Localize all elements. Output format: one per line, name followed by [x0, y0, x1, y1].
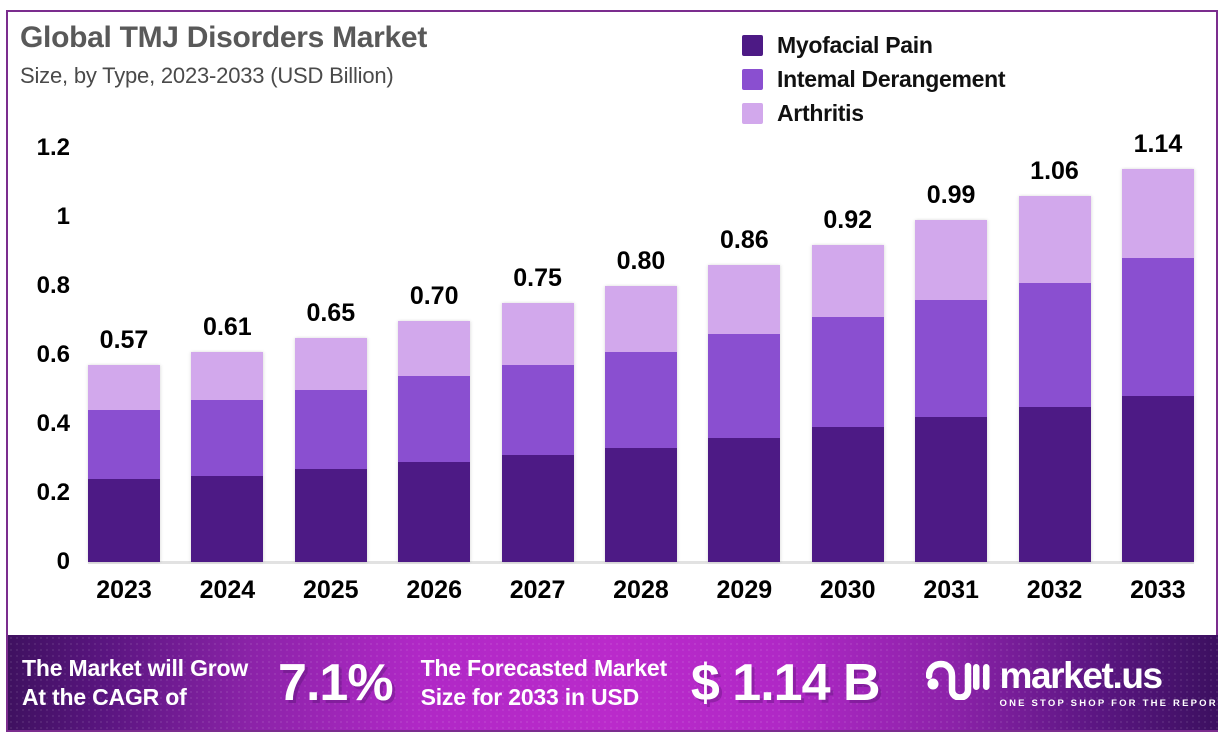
x-axis-tick-label: 2027 — [510, 576, 566, 605]
y-axis-tick-label: 0 — [57, 548, 70, 576]
bar-stack[interactable] — [708, 265, 780, 562]
x-axis-tick-label: 2025 — [303, 576, 359, 605]
bar-total-label: 0.57 — [100, 326, 149, 355]
legend-swatch-icon — [742, 69, 763, 90]
bar-segment[interactable] — [812, 317, 884, 427]
legend-item-2[interactable]: Arthritis — [742, 96, 1005, 130]
bar-segment[interactable] — [502, 365, 574, 455]
bar-stack[interactable] — [1019, 196, 1091, 562]
bar-segment[interactable] — [605, 448, 677, 562]
bar-segment[interactable] — [1122, 258, 1194, 396]
bar-series-container: 0.5720230.6120240.6520250.7020260.752027… — [88, 148, 1194, 562]
bar-segment[interactable] — [88, 479, 160, 562]
cagr-caption-line1: The Market will Grow — [22, 654, 248, 683]
bar-total-label: 0.75 — [513, 264, 562, 293]
bar-segment[interactable] — [605, 286, 677, 352]
chart-legend: Myofacial PainIntemal DerangementArthrit… — [742, 28, 1005, 130]
y-axis-tick-label: 0.8 — [37, 272, 70, 300]
bar-group-2023[interactable]: 0.572023 — [88, 148, 160, 562]
bar-segment[interactable] — [605, 352, 677, 449]
bar-group-2025[interactable]: 0.652025 — [295, 148, 367, 562]
bar-segment[interactable] — [398, 376, 470, 462]
chart-canvas: Global TMJ Disorders Market Size, by Typ… — [0, 0, 1224, 745]
bar-segment[interactable] — [295, 338, 367, 390]
y-axis-tick-label: 1 — [57, 203, 70, 231]
bar-segment[interactable] — [915, 300, 987, 417]
legend-item-1[interactable]: Intemal Derangement — [742, 62, 1005, 96]
bar-segment[interactable] — [708, 265, 780, 334]
forecast-caption-line1: The Forecasted Market — [421, 654, 667, 683]
bar-segment[interactable] — [708, 438, 780, 562]
bar-segment[interactable] — [191, 400, 263, 476]
legend-swatch-icon — [742, 35, 763, 56]
bar-segment[interactable] — [1122, 169, 1194, 259]
bar-segment[interactable] — [88, 410, 160, 479]
bar-segment[interactable] — [1019, 196, 1091, 282]
bar-group-2032[interactable]: 1.062032 — [1019, 148, 1091, 562]
bar-total-label: 1.14 — [1134, 130, 1183, 159]
chart-header: Global TMJ Disorders Market Size, by Typ… — [20, 22, 720, 89]
market-us-logo: market.us ONE STOP SHOP FOR THE REPORTS — [926, 657, 1219, 709]
x-axis-tick-label: 2030 — [820, 576, 876, 605]
x-axis-tick-label: 2033 — [1130, 576, 1186, 605]
plot-area: 00.20.40.60.811.2 0.5720230.6120240.6520… — [88, 148, 1194, 562]
bar-total-label: 0.92 — [823, 206, 872, 235]
bar-segment[interactable] — [812, 245, 884, 317]
bar-segment[interactable] — [88, 365, 160, 410]
x-axis-tick-label: 2023 — [96, 576, 152, 605]
legend-swatch-icon — [742, 103, 763, 124]
bar-total-label: 0.65 — [306, 299, 355, 328]
bar-stack[interactable] — [915, 220, 987, 562]
forecast-caption: The Forecasted Market Size for 2033 in U… — [421, 654, 667, 712]
x-axis-tick-label: 2031 — [923, 576, 979, 605]
logo-word: market.us — [1000, 657, 1219, 694]
legend-item-label: Intemal Derangement — [777, 66, 1005, 93]
cagr-caption-line2: At the CAGR of — [22, 683, 248, 712]
footer-banner: The Market will Grow At the CAGR of 7.1%… — [8, 635, 1218, 730]
cagr-value: 7.1% — [278, 653, 393, 713]
bar-stack[interactable] — [295, 338, 367, 562]
y-axis-tick-label: 0.4 — [37, 410, 70, 438]
bar-group-2033[interactable]: 1.142033 — [1122, 148, 1194, 562]
bar-group-2030[interactable]: 0.922030 — [812, 148, 884, 562]
market-us-wordmark: market.us ONE STOP SHOP FOR THE REPORTS — [1000, 657, 1219, 709]
bar-group-2029[interactable]: 0.862029 — [708, 148, 780, 562]
bar-total-label: 0.99 — [927, 181, 976, 210]
chart-subtitle: Size, by Type, 2023-2033 (USD Billion) — [20, 63, 720, 89]
x-axis-tick-label: 2028 — [613, 576, 669, 605]
bar-total-label: 0.61 — [203, 313, 252, 342]
x-axis-tick-label: 2029 — [717, 576, 773, 605]
bar-segment[interactable] — [191, 352, 263, 400]
bar-group-2027[interactable]: 0.752027 — [502, 148, 574, 562]
bar-segment[interactable] — [915, 220, 987, 299]
bar-stack[interactable] — [398, 321, 470, 563]
market-us-logomark-icon — [926, 660, 990, 705]
logo-tagline: ONE STOP SHOP FOR THE REPORTS — [1000, 698, 1219, 709]
legend-item-label: Arthritis — [777, 100, 864, 127]
bar-segment[interactable] — [191, 476, 263, 562]
x-axis-tick-label: 2032 — [1027, 576, 1083, 605]
bar-segment[interactable] — [502, 303, 574, 365]
y-axis-tick-label: 1.2 — [37, 134, 70, 162]
x-axis-tick-label: 2026 — [406, 576, 462, 605]
bar-stack[interactable] — [1122, 169, 1194, 562]
bar-stack[interactable] — [812, 245, 884, 562]
x-axis-tick-label: 2024 — [200, 576, 256, 605]
bar-segment[interactable] — [398, 321, 470, 376]
legend-item-label: Myofacial Pain — [777, 32, 933, 59]
bar-stack[interactable] — [605, 286, 677, 562]
bar-segment[interactable] — [1019, 407, 1091, 562]
bar-segment[interactable] — [1019, 283, 1091, 407]
page-title: Global TMJ Disorders Market — [20, 22, 720, 54]
bar-segment[interactable] — [812, 427, 884, 562]
bar-segment[interactable] — [915, 417, 987, 562]
bar-group-2026[interactable]: 0.702026 — [398, 148, 470, 562]
cagr-caption: The Market will Grow At the CAGR of — [22, 654, 248, 712]
bar-segment[interactable] — [295, 390, 367, 469]
bar-stack[interactable] — [191, 352, 263, 562]
bar-total-label: 0.86 — [720, 226, 769, 255]
bar-group-2024[interactable]: 0.612024 — [191, 148, 263, 562]
bar-total-label: 1.06 — [1030, 157, 1079, 186]
bar-total-label: 0.80 — [617, 247, 666, 276]
bar-stack[interactable] — [502, 303, 574, 562]
y-axis-tick-label: 0.2 — [37, 479, 70, 507]
bar-total-label: 0.70 — [410, 282, 459, 311]
y-axis-tick-label: 0.6 — [37, 341, 70, 369]
bar-segment[interactable] — [708, 334, 780, 438]
bar-segment[interactable] — [1122, 396, 1194, 562]
bar-stack[interactable] — [88, 365, 160, 562]
bar-segment[interactable] — [398, 462, 470, 562]
bar-segment[interactable] — [502, 455, 574, 562]
forecast-caption-line2: Size for 2033 in USD — [421, 683, 667, 712]
forecast-value: $ 1.14 B — [691, 653, 880, 713]
bar-group-2031[interactable]: 0.992031 — [915, 148, 987, 562]
bar-group-2028[interactable]: 0.802028 — [605, 148, 677, 562]
bar-segment[interactable] — [295, 469, 367, 562]
legend-item-0[interactable]: Myofacial Pain — [742, 28, 1005, 62]
